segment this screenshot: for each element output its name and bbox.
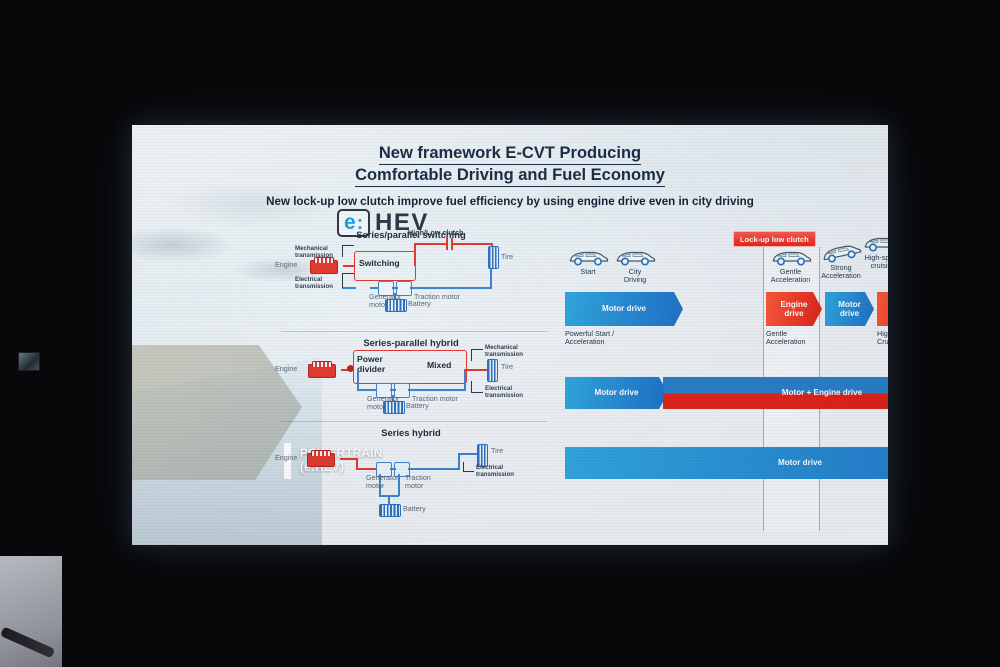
bar-row2-motor-drive-1: Motor drive: [565, 377, 668, 409]
diagram-3-wire-to-gen: [356, 468, 378, 470]
driving-condition-high-speed-cruising: High-speed cruising: [856, 235, 888, 271]
diagram-1-wire-elec-in: [342, 287, 356, 289]
diagram-1-clutch-plate-a: [446, 238, 448, 250]
diagram-2-mixed-label: Mixed: [427, 360, 451, 370]
diagram-3-wire-riser: [458, 453, 460, 469]
bar-row2-motor-engine-drive: Motor + Engine drive: [663, 377, 888, 409]
drive-mode-chart: Lock-up low clutch Start: [563, 229, 880, 531]
diagram-3-wire-motors: [390, 468, 396, 470]
diagram-3-engine-label: Engine: [275, 454, 297, 461]
diagram-1-engine-label: Engine: [275, 261, 297, 268]
diagram-1-wire-top-right: [451, 243, 493, 245]
diagram-3-traction-label: Traction motor: [405, 474, 431, 490]
diagram-1-wire-up: [414, 243, 416, 266]
driving-condition-label: Start: [565, 268, 611, 276]
tire-icon: [488, 246, 499, 269]
engine-icon: [308, 364, 336, 378]
driving-condition-start: Start: [565, 249, 611, 276]
diagram-1-battery-label: Battery: [408, 300, 431, 307]
diagram-2-mechanical-label: Mechanical transmission: [485, 344, 523, 358]
diagram-divider-2: [281, 421, 547, 422]
bar-row3-motor-drive: Motor drive: [565, 447, 888, 479]
diagram-1-clutch-label: High/Low clutch: [408, 229, 464, 236]
diagram-1-elbow-elec: [342, 273, 343, 288]
engine-icon: [310, 260, 338, 274]
diagram-3-elbow-elec-2: [463, 471, 474, 472]
slide-title-line-1: New framework E-CVT Producing: [379, 143, 641, 165]
battery-icon: [379, 504, 401, 517]
diagram-1-elbow-elec-2: [342, 273, 354, 274]
diagram-1-clutch-plate-b: [451, 238, 453, 250]
engine-icon: [307, 453, 335, 467]
diagram-2-battery-label: Battery: [406, 402, 429, 409]
diagram-1-electrical-label: Electrical transmission: [295, 276, 333, 290]
diagram-series-parallel-switching: Series/parallel switching Mechanical tra…: [275, 229, 547, 327]
car-side-icon: [614, 249, 656, 267]
driving-condition-gentle-acceleration: Gentle Acceleration: [763, 249, 818, 285]
diagram-1-wire-top-left: [414, 243, 446, 245]
diagram-2-generator-label: Generator motor: [367, 395, 399, 411]
diagram-3-wire-out: [408, 468, 460, 470]
slide-title-block: New framework E-CVT Producing Comfortabl…: [132, 143, 888, 208]
bar-row1-motor-drive-1: Motor drive: [565, 292, 683, 326]
diagram-series-parallel-hybrid: Series-parallel hybrid Engine Power divi…: [275, 337, 547, 427]
diagram-2-wire-out-riser: [464, 371, 466, 390]
diagram-1-switching-label: Switching: [359, 258, 400, 268]
diagram-3-battery-label: Battery: [403, 505, 426, 512]
slide-title-line-2: Comfortable Driving and Fuel Economy: [355, 165, 665, 187]
presentation-slide: New framework E-CVT Producing Comfortabl…: [132, 125, 888, 545]
diagram-2-wire-motors: [390, 389, 396, 391]
diagram-2-elbow-mech: [471, 349, 472, 361]
driving-condition-label: Gentle Acceleration: [763, 268, 818, 285]
diagram-2-elbow-elec-2: [471, 392, 483, 393]
lock-up-clutch-badge: Lock-up low clutch: [733, 231, 816, 247]
projection-scene: New framework E-CVT Producing Comfortabl…: [0, 0, 1000, 667]
diagram-1-tire-label: Tire: [501, 253, 513, 260]
diagram-series-hybrid: Series hybrid Engine Tire Electrical tra…: [275, 427, 547, 527]
diagram-1-wire-to-tire: [410, 287, 492, 289]
diagram-1-generator-label: Generator motor: [369, 293, 401, 309]
tire-icon: [487, 359, 498, 382]
diagram-2-engine-label: Engine: [275, 365, 297, 372]
slide-content-panel: Series/parallel switching Mechanical tra…: [275, 229, 880, 531]
bar-caption-powerful-start: Powerful Start / Acceleration: [565, 330, 614, 347]
driving-condition-label: High-speed cruising: [856, 254, 888, 271]
diagram-2-wire-out: [408, 389, 466, 391]
car-side-icon: [862, 235, 888, 253]
bar-row1-engine-drive-2: Engine drive: [877, 292, 888, 326]
diagram-3-electrical-label: Electrical transmission: [476, 464, 514, 478]
diagram-1-elbow-mech-2: [342, 245, 354, 246]
car-side-icon: [770, 249, 812, 267]
slide-subtitle: New lock-up low clutch improve fuel effi…: [132, 195, 888, 208]
diagram-divider-1: [281, 331, 547, 332]
diagram-3-tire-label: Tire: [491, 447, 503, 454]
driving-condition-label: City Driving: [612, 268, 658, 285]
bar-row1-motor-drive-2: Motor drive: [825, 292, 874, 326]
diagram-3-generator-label: Generator motor: [366, 474, 398, 490]
bar-caption-gentle-acceleration: Gentle Acceleration: [766, 330, 806, 347]
diagram-1-elbow-mech: [342, 245, 343, 257]
diagram-2-electrical-label: Electrical transmission: [485, 385, 523, 399]
diagram-2-elbow-mech-2: [471, 349, 483, 350]
diagram-3-title: Series hybrid: [275, 427, 547, 438]
diagram-2-power-divider-label: Power divider: [357, 354, 385, 374]
diagram-1-wire-motors: [392, 287, 398, 289]
bar-row1-engine-drive-1: Engine drive: [766, 292, 822, 326]
wall-plate: [18, 352, 40, 371]
diagram-2-wire-gen-riser: [357, 371, 359, 390]
diagram-2-tire-label: Tire: [501, 363, 513, 370]
driving-condition-city-driving: City Driving: [612, 249, 658, 285]
car-side-icon: [567, 249, 609, 267]
bar-caption-high-speed-cruising: High-speed Cruising: [877, 330, 888, 347]
